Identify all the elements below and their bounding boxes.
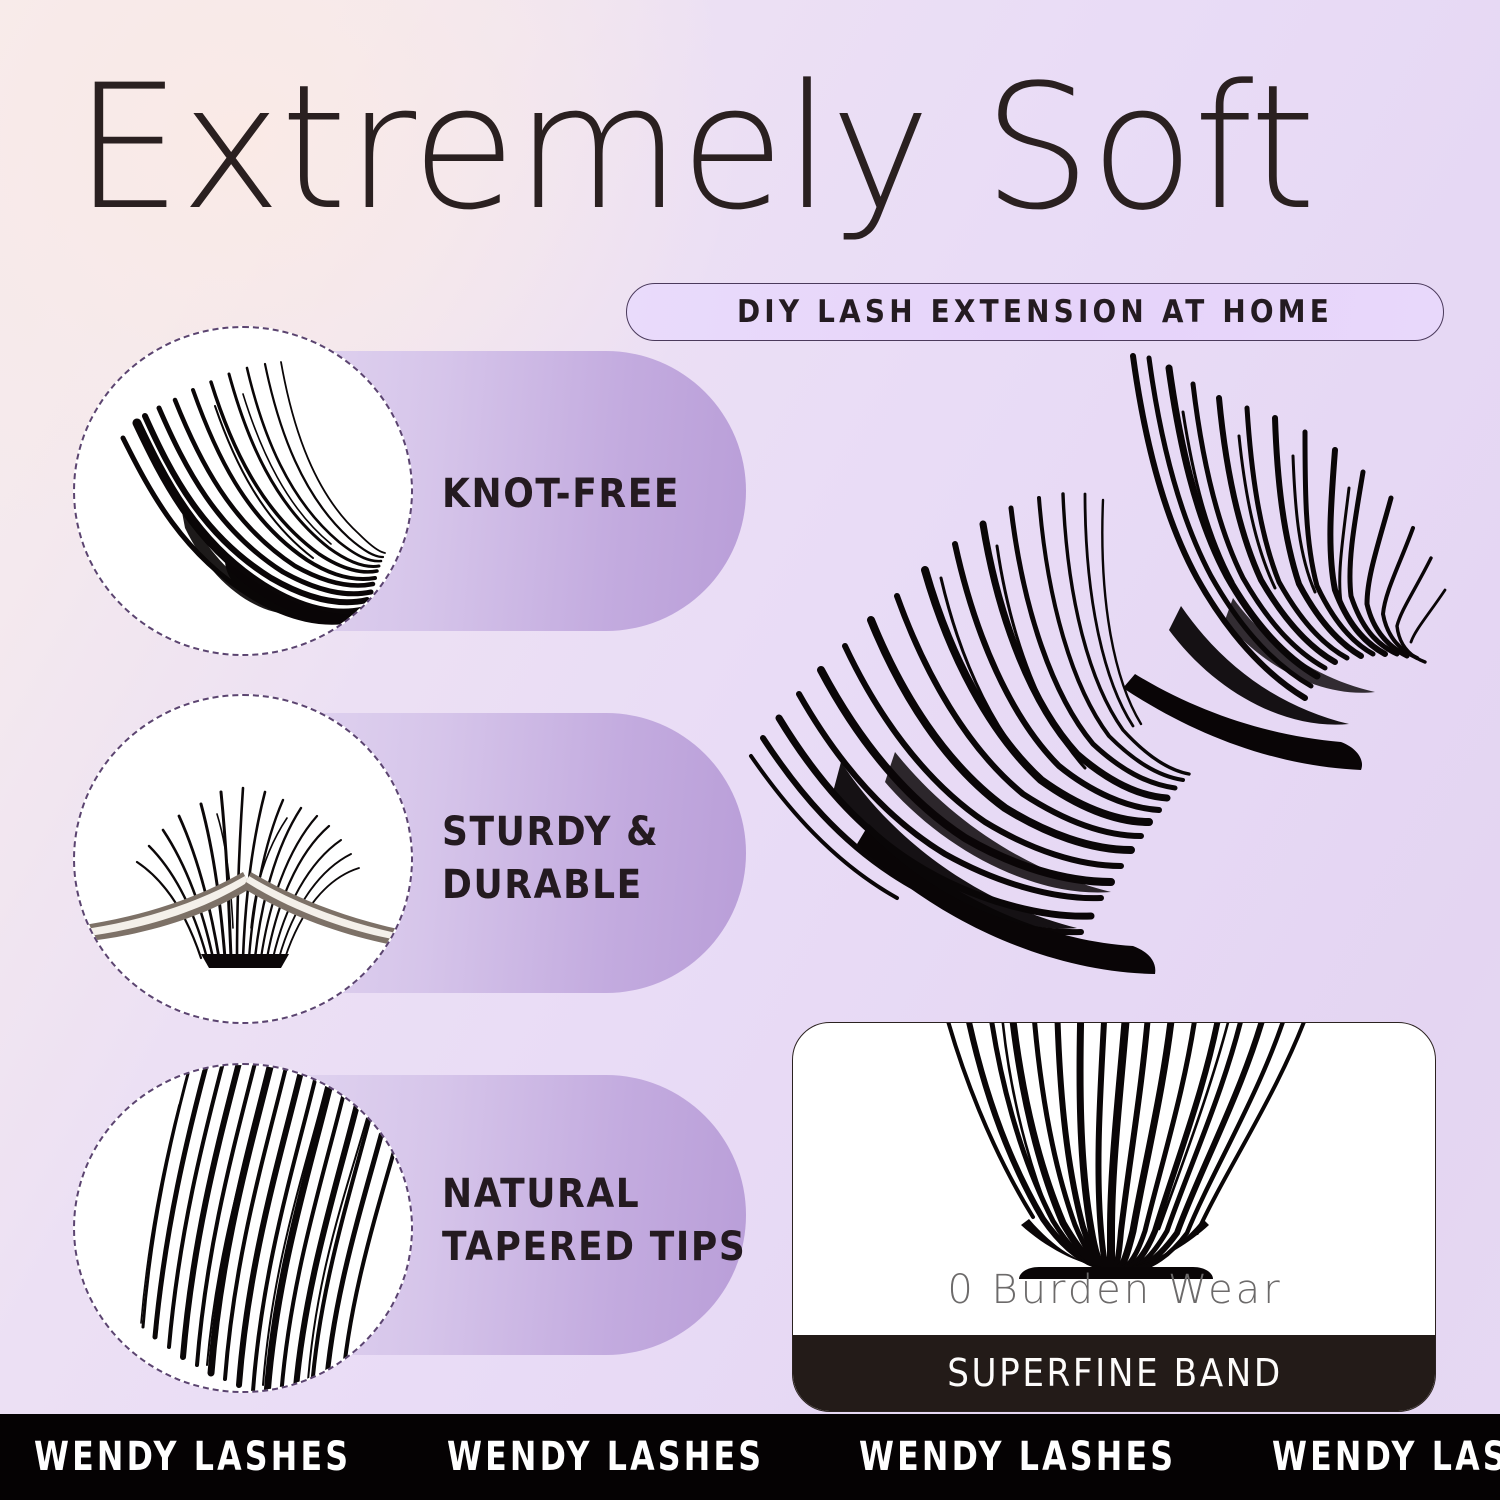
tapered-lash-fibers-icon: [75, 1065, 413, 1393]
lash-cluster-curved-icon: [75, 328, 413, 656]
feature-image-knot-free: [73, 326, 413, 656]
feature-image-sturdy-durable: [73, 694, 413, 1024]
lash-cluster-on-band-icon: [793, 1023, 1436, 1291]
brand-watermark-strip: WENDY LASHES WENDY LASHES WENDY LASHES W…: [0, 1414, 1500, 1500]
product-card-superfine-band: 0 Burden Wear SUPERFINE BAND: [792, 1022, 1436, 1412]
two-lash-clusters-icon: [745, 352, 1475, 992]
feature-image-natural-tapered-tips: [73, 1063, 413, 1393]
feature-label-natural-tapered-tips: NATURAL TAPERED TIPS: [442, 1168, 746, 1274]
feature-label-knot-free: KNOT-FREE: [442, 468, 680, 521]
product-card-footer-label: SUPERFINE BAND: [947, 1351, 1283, 1395]
product-infographic: Extremely Soft DIY LASH EXTENSION AT HOM…: [0, 0, 1500, 1500]
subtitle-badge: DIY LASH EXTENSION AT HOME: [626, 283, 1444, 341]
tweezers-holding-lash-icon: [75, 696, 413, 1024]
watermark-brand-2: WENDY LASHES: [447, 1434, 764, 1480]
watermark-brand-4: WENDY LASHES: [1272, 1434, 1500, 1480]
page-title: Extremely Soft: [74, 62, 1480, 234]
product-card-footer: SUPERFINE BAND: [793, 1335, 1436, 1411]
watermark-brand-1: WENDY LASHES: [34, 1434, 351, 1480]
subtitle-badge-label: DIY LASH EXTENSION AT HOME: [737, 294, 1333, 330]
product-card-caption: 0 Burden Wear: [793, 1267, 1436, 1313]
watermark-brand-3: WENDY LASHES: [859, 1434, 1176, 1480]
feature-label-sturdy-durable: STURDY & DURABLE: [442, 806, 659, 912]
